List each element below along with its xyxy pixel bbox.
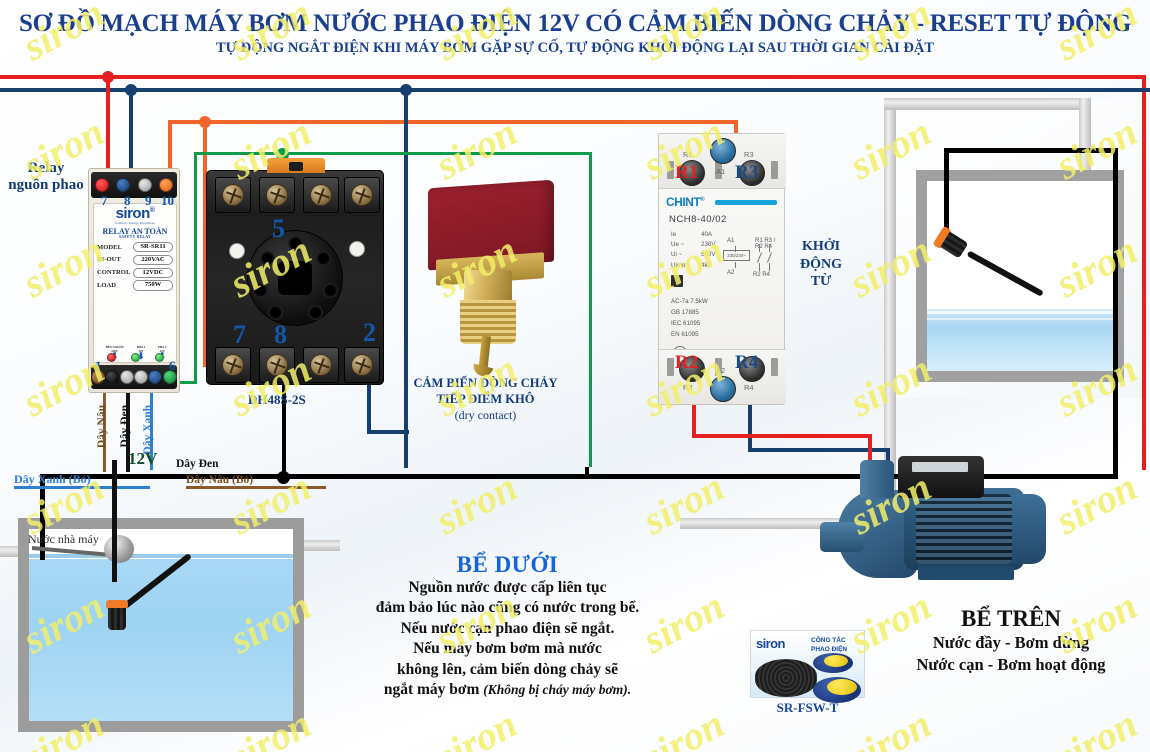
- wire-red-to-relay-pin7: [106, 75, 110, 183]
- socket-hole: [260, 251, 275, 266]
- wire-navy-bus-top: [0, 88, 1150, 92]
- wire-red-bus-top: [0, 75, 1146, 79]
- contactor-window: [671, 275, 683, 287]
- relay-pin-label-8: 8: [124, 193, 131, 209]
- wire-red-pump-run: [692, 434, 872, 438]
- wire-green-top: [194, 152, 592, 155]
- tank-bottom-title: BỂ DƯỚI: [335, 552, 680, 578]
- product-brand: siron: [756, 636, 785, 651]
- screw-icon: [266, 354, 288, 376]
- screw-icon: [310, 184, 332, 206]
- contactor-slot: [771, 358, 778, 376]
- tank-bottom-last-bold: ngắt máy bơm: [384, 681, 480, 698]
- relay-terminal-blk[interactable]: [105, 370, 119, 384]
- socket-terminal-top-3[interactable]: [303, 177, 339, 213]
- relay-spec-value: SR-SR11: [133, 242, 173, 252]
- page-title: SƠ ĐỒ MẠCH MÁY BƠM NƯỚC PHAO ĐIỆN 12V CÓ…: [0, 10, 1150, 38]
- contactor-tag-r4: R4: [735, 352, 758, 374]
- wire-black-top-tank-run: [944, 148, 1118, 153]
- contactor-standard: EN 61095: [671, 330, 708, 341]
- relay-terminal-spare[interactable]: [134, 370, 148, 384]
- relay-caption-line1: Relay nguồn phao: [8, 160, 84, 195]
- tank-bottom-line: Nếu máy bơm bơm mà nước: [335, 639, 680, 659]
- tank-bottom-line: Nếu nước cạn phao điện sẽ ngắt.: [335, 619, 680, 639]
- tank-bottom-last-line: ngắt máy bơm (Không bị cháy máy bơm).: [335, 680, 680, 700]
- product-float-rear: [813, 653, 853, 673]
- product-label: CÔNG TẮC PHAO ĐIỆN: [811, 637, 847, 655]
- contactor-spec-key: Ie: [671, 230, 701, 240]
- wire-black-right-rise: [1113, 148, 1118, 479]
- screw-icon: [310, 354, 332, 376]
- relay-terminal-7[interactable]: [95, 178, 109, 192]
- pump-junction-box: [898, 456, 984, 498]
- pipe-suction-to-pump: [680, 518, 840, 529]
- tank-bottom-line: Nguồn nước được cấp liên tục: [335, 578, 680, 598]
- wire-label-day-xanh: Dây Xanh: [142, 405, 154, 455]
- wire-green-right: [589, 152, 592, 467]
- float-bottom-weight: [106, 600, 128, 630]
- contactor-spec-row: Uimp4kV: [671, 261, 715, 271]
- socket-terminal-bot-2[interactable]: [344, 347, 380, 383]
- contactor-brand: CHINT®: [666, 195, 704, 209]
- product-float-yellow: [824, 655, 848, 667]
- relay-spec-key: CONTROL: [97, 269, 131, 276]
- contactor-tag-r2: R2: [675, 352, 698, 374]
- ballcock-float: [104, 535, 134, 563]
- node-navy-2: [400, 84, 412, 96]
- contactor-label-r1: R1: [683, 150, 693, 159]
- screw-icon: [222, 184, 244, 206]
- flow-sensor-caption: CẢM BIẾN DÒNG CHẢY TIẾP ĐIỂM KHÔ (dry co…: [398, 375, 573, 423]
- wire-red-right-drop: [1142, 75, 1146, 470]
- relay-spec-key: MODEL: [97, 244, 131, 251]
- socket-hole: [253, 283, 268, 298]
- screw-icon: [266, 184, 288, 206]
- tank-bottom-text-block: BỂ DƯỚI Nguồn nước được cấp liên tục đảm…: [335, 552, 680, 701]
- wire-label-day-den: Dây Đen: [119, 405, 131, 448]
- relay-pin-label-1: 1: [95, 358, 102, 374]
- socket-hole: [316, 251, 331, 266]
- timer-socket-model: DH48S-2S: [248, 392, 306, 408]
- relay-product-title: RELAY AN TOÀN SAFETY RELAY: [97, 228, 173, 240]
- pump-nameplate: [912, 462, 968, 472]
- relay-terminal-9[interactable]: [138, 178, 152, 192]
- screw-icon: [351, 354, 373, 376]
- schematic-coil: 230/230~: [723, 250, 750, 261]
- socket-terminal-bot-8[interactable]: [259, 347, 295, 383]
- socket-pin-label-8: 8: [274, 320, 287, 350]
- socket-pin-hub: [247, 230, 343, 326]
- product-model-name: SR-FSW-T: [750, 700, 865, 716]
- relay-pin-label-9: 9: [145, 193, 152, 209]
- wire-label-day-nau-bo: Dây Nâu (Bỏ): [186, 474, 253, 486]
- flow-sensor-caption-line3: (dry contact): [398, 408, 573, 424]
- contactor-spec-value: 230V: [701, 241, 715, 248]
- contactor-spec-row: Ie40A: [671, 230, 715, 240]
- relay-spec-key: LOAD: [97, 282, 131, 289]
- contactor-standards: AC-7a 7.5kW GB 17885 IEC 61095 EN 61095: [671, 297, 708, 340]
- wire-label-day-den-2: Dây Đen: [176, 458, 219, 470]
- flow-sensor-caption-line1: CẢM BIẾN DÒNG CHẢY: [398, 375, 573, 391]
- water-pump: [830, 450, 1060, 590]
- relay-pin-label-6: 6: [169, 358, 176, 374]
- page-subtitle: TỰ ĐỘNG NGẮT ĐIỆN KHI MÁY BƠM GẶP SỰ CỐ,…: [0, 40, 1150, 57]
- pump-outlet: [860, 460, 894, 498]
- contactor-label-a2: A2: [716, 366, 725, 375]
- relay-brand-tagline: Comfort brings happiness: [97, 221, 173, 225]
- tank-top-line: Nước đầy - Bơm dừng: [880, 632, 1142, 654]
- flow-sensor-caption-line2: TIẾP ĐIỂM KHÔ: [398, 391, 573, 407]
- relay-spec-row: LOAD 750W: [97, 280, 173, 290]
- product-showcase: siron CÔNG TẮC PHAO ĐIỆN SR-FSW-T: [750, 630, 865, 720]
- socket-hole: [288, 236, 303, 251]
- socket-terminal-top-5[interactable]: [259, 177, 295, 213]
- wire-black-flowsensor-left: [585, 467, 589, 479]
- socket-hole: [308, 305, 323, 320]
- schematic-label-a2: A2: [727, 270, 734, 276]
- contactor-label-r4: R4: [744, 383, 754, 392]
- wire-black-top-tank-drop: [944, 148, 949, 234]
- relay-product-subtitle: SAFETY RELAY: [97, 236, 173, 240]
- float-bottom-cord-vertical: [112, 460, 117, 582]
- float-weight-body: [108, 608, 126, 630]
- contactor-label-r2: R2: [683, 383, 693, 392]
- contactor-terminal-a1[interactable]: [710, 138, 736, 164]
- screw-icon: [222, 354, 244, 376]
- contactor-spec-key: Ue ~: [671, 240, 701, 250]
- product-label-line1: CÔNG TẮC: [811, 637, 847, 646]
- contactor-tag-r3: R3: [735, 162, 758, 184]
- product-cable-coil: [755, 659, 817, 697]
- contactor-standard: GB 17885: [671, 308, 708, 319]
- relay-spec-row: IN-OUT 220VAC: [97, 255, 173, 265]
- tank-top-water-level: [927, 309, 1113, 371]
- socket-hole: [268, 305, 283, 320]
- schematic-label-a1: A1: [727, 238, 734, 244]
- node-navy-1: [125, 84, 137, 96]
- contactor-label-a1: A1: [716, 167, 725, 176]
- contactor-spec-row: Ui ~500V: [671, 250, 715, 260]
- contactor-spec-value: 500V: [701, 251, 715, 258]
- contactor-spec-value: 40A: [701, 231, 712, 238]
- socket-terminal-bot-6[interactable]: [303, 347, 339, 383]
- flow-sensor[interactable]: [424, 184, 556, 364]
- socket-mount-hole: [229, 243, 245, 259]
- product-float-yellow: [827, 679, 857, 695]
- relay-spec-value: 220VAC: [133, 255, 173, 265]
- socket-hole: [323, 283, 338, 298]
- contactor-spec-row: Ue ~230V: [671, 240, 715, 250]
- phase1-led-icon: [131, 353, 140, 362]
- wire-navy-pin2-run: [367, 430, 409, 434]
- tank-bottom-line: không lên, cảm biến dòng chảy sẽ: [335, 660, 680, 680]
- phase2-led-icon: [155, 353, 164, 362]
- tank-top-title: BỂ TRÊN: [880, 606, 1142, 632]
- schematic-label-r2r4: R2 R4: [753, 272, 770, 278]
- pipe-top-vertical-riser: [884, 98, 896, 418]
- node-orange-1: [199, 116, 211, 128]
- node-black-bottom: [277, 471, 290, 484]
- relay-spec-row: CONTROL 12VDC: [97, 268, 173, 278]
- power-led-icon: [107, 353, 116, 362]
- flow-sensor-hex-nut: [464, 270, 512, 304]
- contactor-slot: [771, 161, 778, 179]
- relay-caption: Relay nguồn phao: [8, 160, 84, 195]
- wire-label-day-xanh-bo: Dây Xanh (Bỏ): [14, 472, 91, 487]
- contactor-power-rating: AC-7a 7.5kW: [671, 297, 708, 308]
- relay-bottom-terminals[interactable]: [91, 365, 177, 389]
- contactor-model: NCH8-40/02: [669, 214, 727, 225]
- socket-terminal-top-1[interactable]: [215, 177, 251, 213]
- tank-bottom-line: đảm bảo lúc nào cũng có nước trong bể.: [335, 598, 680, 618]
- socket-center-keyway: [278, 261, 312, 295]
- relay-spec-key: IN-OUT: [97, 256, 131, 263]
- socket-pin-label-7: 7: [233, 320, 246, 350]
- socket-terminal-top-4[interactable]: [344, 177, 380, 213]
- timer-relay-socket[interactable]: [206, 170, 384, 385]
- relay-faceplate: siron® Comfort brings happiness RELAY AN…: [93, 203, 177, 363]
- relay-spec-value: 12VDC: [133, 268, 173, 278]
- socket-mount-hole: [349, 241, 365, 257]
- relay-terminal-blue[interactable]: [148, 370, 162, 384]
- relay-terminal-gnd[interactable]: [120, 370, 134, 384]
- relay-terminal-10[interactable]: [159, 178, 173, 192]
- socket-pin-label-5: 5: [272, 214, 285, 244]
- product-box: siron CÔNG TẮC PHAO ĐIỆN: [750, 630, 865, 698]
- diagram-canvas: SƠ ĐỒ MẠCH MÁY BƠM NƯỚC PHAO ĐIỆN 12V CÓ…: [0, 0, 1150, 752]
- contactor-caption: KHỞI ĐỘNG TỪ: [790, 238, 852, 291]
- node-red-1: [102, 71, 114, 83]
- contactor-slot: [667, 358, 674, 376]
- contactor-spec-value: 4kV: [701, 262, 712, 269]
- socket-terminal-bot-7[interactable]: [215, 347, 251, 383]
- contactor-standard: IEC 61095: [671, 319, 708, 330]
- contactor-schematic: A1 R1 R3 / R2 R4 230/230~ A2 R2 R4: [721, 232, 779, 302]
- tank-top-text-block: BỂ TRÊN Nước đầy - Bơm dừng Nước cạn - B…: [880, 606, 1142, 676]
- pump-base: [918, 566, 1014, 580]
- contactor-spec-list: Ie40A Ue ~230V Ui ~500V Uimp4kV: [671, 230, 715, 271]
- pipe-top-horizontal: [884, 98, 1091, 110]
- relay-pin-label-10: 10: [161, 193, 174, 209]
- wire-label-day-nau: Dây Nâu: [96, 405, 108, 448]
- wire-green-left: [194, 152, 197, 384]
- contactor-brand-bar: [715, 200, 777, 205]
- socket-clip: [267, 158, 325, 173]
- contactor-spec-key: Ui ~: [671, 250, 701, 260]
- tank-bottom-water-level: [29, 559, 293, 721]
- contactor-label-r3: R3: [744, 150, 754, 159]
- tank-bottom-last-italic: (Không bị cháy máy bơm).: [483, 682, 631, 697]
- relay-led-row: [99, 353, 171, 362]
- contactor-spec-key: Uimp: [671, 261, 701, 271]
- relay-terminal-8[interactable]: [116, 178, 130, 192]
- wire-orange-bus: [168, 120, 738, 124]
- socket-pin-label-2: 2: [363, 318, 376, 348]
- pump-end-cap: [1012, 494, 1046, 564]
- tank-top-line: Nước cạn - Bơm hoạt động: [880, 654, 1142, 676]
- wire-brown-bottom-run: [186, 486, 326, 489]
- pump-inlet: [820, 522, 864, 552]
- pump-cooling-fins: [916, 494, 1012, 564]
- relay-spec-row: MODEL SR-SR11: [97, 242, 173, 252]
- contactor-tag-r1: R1: [675, 162, 698, 184]
- screw-icon: [351, 184, 373, 206]
- wire-label-12v: 12V: [128, 449, 157, 469]
- relay-spec-value: 750W: [133, 280, 173, 290]
- tank-inlet-label: Nước nhà máy: [28, 532, 99, 547]
- relay-pin-label-7: 7: [101, 193, 108, 209]
- contactor-terminal-a2[interactable]: [710, 376, 736, 402]
- contactor-slot: [667, 161, 674, 179]
